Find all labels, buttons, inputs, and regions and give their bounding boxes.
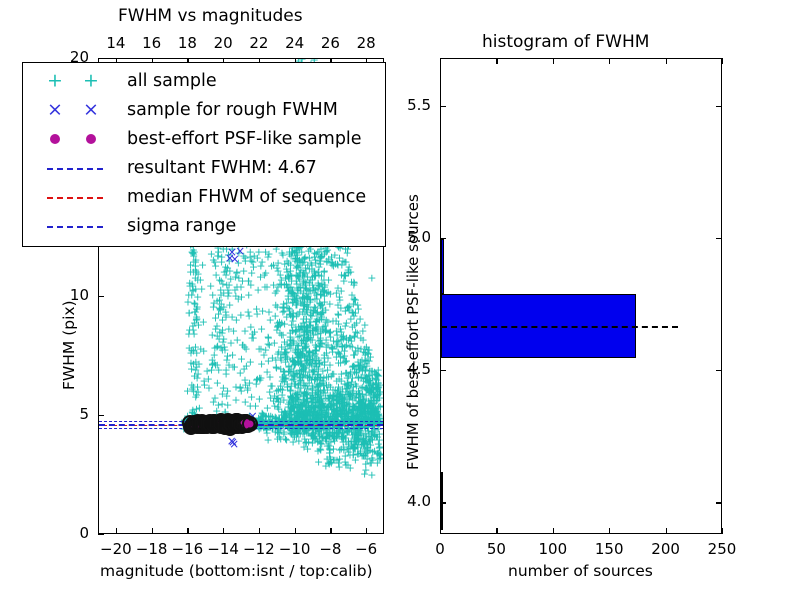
cross-icon: × — [47, 101, 63, 120]
scatter-ylabel: FWHM (pix) — [60, 300, 78, 390]
scatter-point-all: + — [252, 303, 261, 314]
axis-tick — [496, 528, 497, 534]
axis-tick — [152, 528, 153, 534]
axis-tick — [187, 528, 188, 534]
axis-tick-label: 14 — [106, 34, 125, 52]
axis-tick-label: 5 — [79, 405, 89, 423]
legend-item-4[interactable]: median FHWM of sequence — [31, 183, 366, 211]
scatter-point-all: + — [196, 343, 205, 354]
scatter-point-all: + — [272, 262, 281, 273]
scatter-point-all: + — [353, 448, 362, 459]
scatter-point-all: + — [302, 305, 311, 316]
scatter-point-all: + — [183, 297, 192, 308]
axis-tick — [553, 528, 554, 534]
axis-tick-label: 20 — [214, 34, 233, 52]
axis-tick-label: 5.5 — [407, 96, 431, 114]
scatter-point-all: + — [309, 406, 318, 417]
scatter-point-all: + — [327, 258, 336, 269]
scatter-point-all: + — [273, 392, 282, 403]
axis-tick — [666, 528, 667, 534]
legend-item-3[interactable]: resultant FWHM: 4.67 — [31, 154, 317, 182]
axis-tick — [716, 106, 722, 107]
axis-tick-label: −18 — [136, 540, 168, 558]
axis-tick-label: 0 — [435, 540, 445, 558]
scatter-point-all: + — [317, 308, 326, 319]
scatter-point-all: + — [273, 318, 282, 329]
scatter-point-all: + — [309, 367, 318, 378]
scatter-point-all: + — [341, 355, 350, 366]
scatter-point-all: + — [350, 349, 359, 360]
scatter-point-all: + — [260, 270, 269, 281]
axis-tick-label: 24 — [285, 34, 304, 52]
scatter-point-all: + — [322, 288, 331, 299]
scatter-point-all: + — [215, 303, 224, 314]
axis-tick — [259, 528, 260, 534]
legend-item-label: best-effort PSF-like sample — [127, 129, 362, 149]
scatter-point-all: + — [249, 261, 258, 272]
axis-tick — [496, 58, 497, 64]
cross-icon: × — [83, 101, 99, 120]
circle-icon — [50, 134, 60, 144]
legend-item-5[interactable]: sigma range — [31, 212, 236, 240]
axis-tick-label: −20 — [100, 540, 132, 558]
axis-tick-label: 28 — [357, 34, 376, 52]
figure-canvas: FWHM vs magnitudes +++++++++++++++++++++… — [0, 0, 800, 600]
scatter-point-all: + — [271, 287, 280, 298]
scatter-point-all: + — [184, 328, 193, 339]
histogram-panel-title: histogram of FWHM — [482, 32, 649, 52]
scatter-point-all: + — [283, 303, 292, 314]
legend-marker-cross-icon: ×× — [31, 96, 127, 124]
scatter-point-all: + — [335, 391, 344, 402]
scatter-point-all: + — [357, 372, 366, 383]
axis-tick — [440, 528, 441, 534]
scatter-point-all: + — [366, 387, 375, 398]
axis-tick — [366, 528, 367, 534]
legend-item-2[interactable]: best-effort PSF-like sample — [31, 125, 362, 153]
scatter-point-all: + — [302, 437, 311, 448]
scatter-point-all: + — [315, 395, 324, 406]
scatter-point-all: + — [195, 403, 204, 414]
legend-marker-dashed-line-icon — [31, 154, 127, 182]
scatter-point-all: + — [310, 346, 319, 357]
histogram-bar — [441, 472, 443, 530]
circle-icon — [86, 134, 96, 144]
scatter-point-all: + — [329, 454, 338, 465]
scatter-point-all: + — [320, 356, 329, 367]
scatter-point-all: + — [239, 363, 248, 374]
axis-tick — [98, 296, 104, 297]
plus-icon: + — [83, 72, 99, 91]
scatter-point-all: + — [200, 375, 209, 386]
axis-tick — [440, 106, 446, 107]
axis-tick — [295, 528, 296, 534]
scatter-point-all: + — [198, 260, 207, 271]
legend-marker-dashdot-line-icon — [31, 212, 127, 240]
axis-tick-label: 18 — [178, 34, 197, 52]
scatter-xlabel: magnitude (bottom:isnt / top:calib) — [100, 562, 373, 580]
axis-tick-label: −10 — [279, 540, 311, 558]
axis-tick — [716, 238, 722, 239]
axis-tick-label: −8 — [319, 540, 341, 558]
scatter-point-all: + — [276, 433, 285, 444]
scatter-point-all: + — [186, 266, 195, 277]
scatter-point-all: + — [213, 377, 222, 388]
scatter-point-all: + — [276, 349, 285, 360]
scatter-point-all: + — [347, 335, 356, 346]
axis-tick — [609, 58, 610, 64]
axis-tick — [440, 238, 446, 239]
axis-tick — [722, 528, 723, 534]
legend-item-label: sigma range — [127, 216, 236, 236]
scatter-point-all: + — [226, 337, 235, 348]
scatter-point-all: + — [214, 400, 223, 411]
scatter-point-all: + — [313, 446, 322, 457]
scatter-point-all: + — [314, 261, 323, 272]
axis-tick — [330, 528, 331, 534]
legend-item-label: all sample — [127, 71, 217, 91]
axis-tick-label: 22 — [249, 34, 268, 52]
scatter-point-all: + — [223, 385, 232, 396]
scatter-point-all: + — [289, 402, 298, 413]
scatter-point-all: + — [319, 372, 328, 383]
scatter-point-all: + — [360, 319, 369, 330]
scatter-point-all: + — [214, 246, 223, 257]
axis-tick — [98, 58, 104, 59]
axis-tick — [116, 528, 117, 534]
scatter-point-all: + — [336, 410, 345, 421]
axis-tick-label: −16 — [172, 540, 204, 558]
scatter-point-all: + — [208, 329, 217, 340]
axis-tick — [98, 415, 104, 416]
scatter-point-all: + — [236, 383, 245, 394]
axis-tick-label: −6 — [355, 540, 377, 558]
axis-tick — [440, 502, 446, 503]
axis-tick — [716, 370, 722, 371]
scatter-point-all: + — [333, 300, 342, 311]
axis-tick-label: 50 — [487, 540, 506, 558]
axis-tick-label: 100 — [538, 540, 567, 558]
scatter-point-rough: × — [227, 435, 237, 447]
scatter-point-all: + — [183, 385, 192, 396]
legend: ++all sample××sample for rough FWHMbest-… — [22, 62, 386, 247]
scatter-point-all: + — [218, 325, 227, 336]
scatter-point-all: + — [285, 365, 294, 376]
scatter-point-all: + — [271, 362, 280, 373]
scatter-point-all: + — [306, 275, 315, 286]
scatter-point-all: + — [350, 320, 359, 331]
scatter-point-all: + — [337, 368, 346, 379]
axis-tick-label: 4.0 — [407, 492, 431, 510]
scatter-point-all: + — [193, 291, 202, 302]
legend-marker-plus-icon: ++ — [31, 67, 127, 95]
axis-tick-label: 250 — [708, 540, 737, 558]
axis-tick-label: −12 — [243, 540, 275, 558]
scatter-point-all: + — [350, 295, 359, 306]
dashed-line-icon — [47, 168, 103, 170]
axis-tick — [666, 58, 667, 64]
scatter-point-all: + — [339, 276, 348, 287]
plus-icon: + — [47, 72, 63, 91]
scatter-point-all: + — [365, 344, 374, 355]
scatter-point-all: + — [190, 317, 199, 328]
scatter-point-all: + — [199, 316, 208, 327]
scatter-point-all: + — [211, 260, 220, 271]
axis-tick-label: 200 — [651, 540, 680, 558]
scatter-point-all: + — [288, 285, 297, 296]
axis-tick — [440, 370, 446, 371]
scatter-point-all: + — [363, 404, 372, 415]
scatter-point-all: + — [185, 342, 194, 353]
axis-tick-label: 16 — [142, 34, 161, 52]
dashed-line-icon — [47, 197, 103, 199]
scatter-point-rough: × — [225, 252, 235, 264]
legend-item-label: resultant FWHM: 4.67 — [127, 158, 317, 178]
scatter-point-all: + — [228, 349, 237, 360]
axis-tick-label: 0 — [79, 524, 89, 542]
dashdot-line-icon — [47, 226, 103, 228]
scatter-point-all: + — [367, 272, 376, 283]
scatter-point-all: + — [271, 299, 280, 310]
legend-item-label: median FHWM of sequence — [127, 187, 366, 207]
axis-tick-label: −14 — [207, 540, 239, 558]
axis-tick — [98, 534, 104, 535]
scatter-point-all: + — [328, 431, 337, 442]
scatter-point-all: + — [290, 378, 299, 389]
scatter-panel-title: FWHM vs magnitudes — [118, 6, 303, 26]
scatter-point-all: + — [292, 261, 301, 272]
axis-tick — [440, 58, 441, 64]
scatter-point-all: + — [256, 343, 265, 354]
scatter-point-all: + — [339, 445, 348, 456]
scatter-point-all: + — [210, 342, 219, 353]
scatter-point-all: + — [363, 443, 372, 454]
scatter-point-all: + — [206, 280, 215, 291]
scatter-point-all: + — [221, 269, 230, 280]
scatter-point-all: + — [231, 290, 240, 301]
scatter-point-all: + — [332, 341, 341, 352]
scatter-point-all: + — [341, 256, 350, 267]
scatter-point-all: + — [365, 375, 374, 386]
scatter-point-all: + — [232, 314, 241, 325]
histogram-data-layer — [441, 59, 721, 533]
scatter-point-all: + — [252, 379, 261, 390]
histogram-ylabel: FWHM of best-effort PSF-like sources — [404, 194, 422, 470]
scatter-point-all: + — [304, 333, 313, 344]
scatter-point-all: + — [244, 290, 253, 301]
axis-tick — [722, 58, 723, 64]
axis-tick-label: 26 — [321, 34, 340, 52]
scatter-point-all: + — [263, 402, 272, 413]
axis-tick — [609, 528, 610, 534]
legend-item-0[interactable]: ++all sample — [31, 67, 217, 95]
histogram-median-line — [441, 326, 678, 328]
scatter-point-all: + — [228, 361, 237, 372]
legend-item-label: sample for rough FWHM — [127, 100, 338, 120]
scatter-point-all: + — [305, 253, 314, 264]
scatter-point-all: + — [208, 359, 217, 370]
scatter-point-all: + — [238, 339, 247, 350]
axis-tick — [716, 502, 722, 503]
scatter-point-all: + — [264, 249, 273, 260]
legend-marker-dashed-line-icon — [31, 183, 127, 211]
scatter-point-all: + — [321, 334, 330, 345]
legend-item-1[interactable]: ××sample for rough FWHM — [31, 96, 338, 124]
legend-marker-circle-icon — [31, 125, 127, 153]
psf-sample-marker — [247, 420, 254, 427]
axis-tick — [223, 528, 224, 534]
scatter-point-all: + — [291, 326, 300, 337]
histogram-bar — [441, 239, 444, 295]
axis-tick-label: 150 — [595, 540, 624, 558]
axis-tick — [553, 58, 554, 64]
histogram-xlabel: number of sources — [508, 562, 653, 580]
